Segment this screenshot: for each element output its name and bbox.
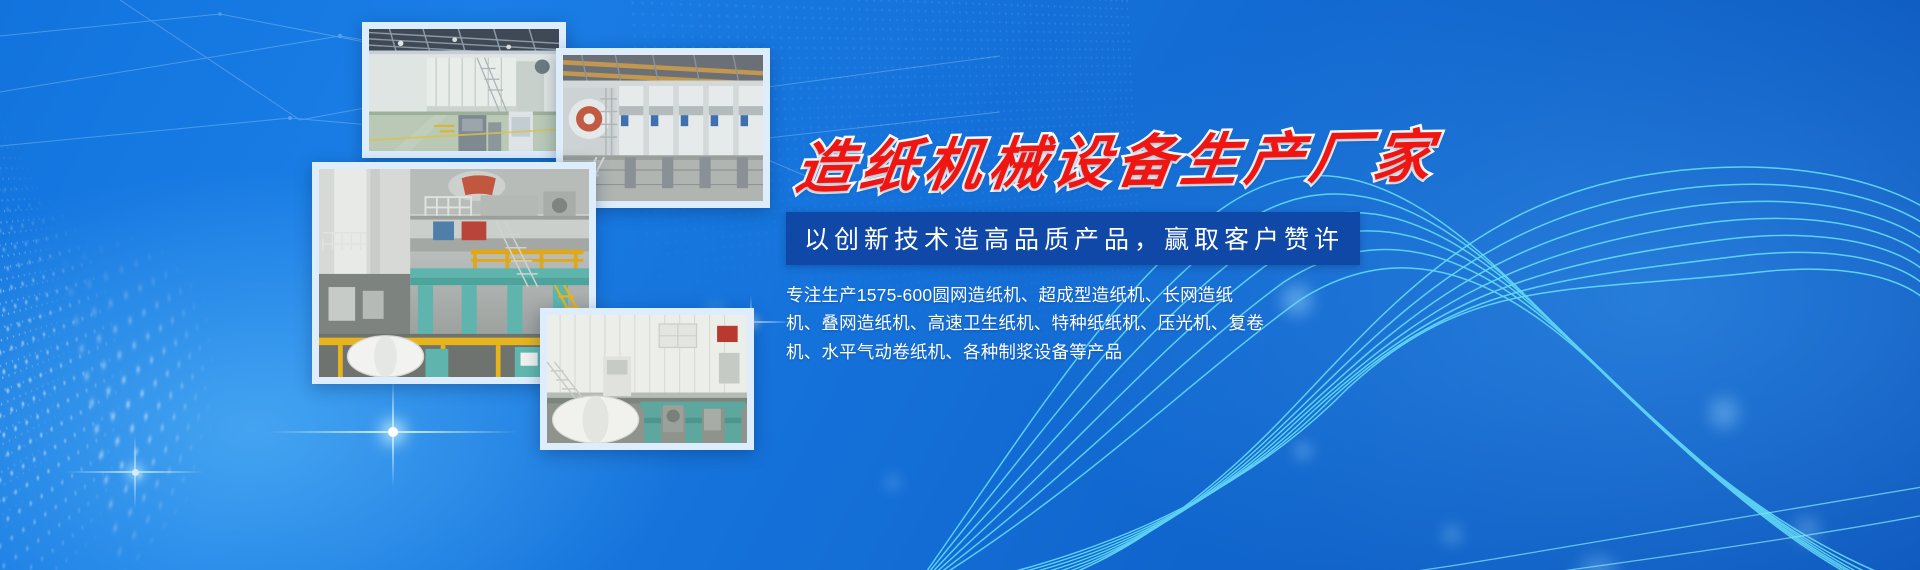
bokeh-dot — [1290, 438, 1316, 464]
banner-text-block: 造纸机械设备生产厂家 以创新技术造高品质产品，赢取客户赞许 专注生产1575-6… — [786, 140, 1786, 366]
bokeh-dot — [1790, 508, 1824, 552]
bokeh-dot — [1568, 552, 1628, 570]
sparkle-flare — [263, 372, 523, 492]
bokeh-dot — [880, 470, 906, 496]
paper-roll-machine-photo — [540, 308, 754, 450]
dot-grid-background-blur — [0, 0, 299, 570]
hero-banner: 造纸机械设备生产厂家 以创新技术造高品质产品，赢取客户赞许 专注生产1575-6… — [0, 0, 1920, 570]
banner-headline: 造纸机械设备生产厂家 — [786, 121, 1797, 200]
bokeh-dot — [1437, 520, 1467, 550]
bokeh-dot — [1705, 388, 1743, 438]
dot-grid-background — [0, 0, 215, 570]
banner-subtitle: 以创新技术造高品质产品，赢取客户赞许 — [804, 220, 1344, 256]
sparkle-flare — [60, 432, 210, 512]
dot-grid-background-bokeh — [0, 0, 314, 570]
banner-description: 专注生产1575-600圆网造纸机、超成型造纸机、长网造纸机、叠网造纸机、高速卫… — [786, 281, 1266, 366]
paper-machine-workshop-photo — [362, 22, 566, 158]
banner-description-block: 专注生产1575-600圆网造纸机、超成型造纸机、长网造纸机、叠网造纸机、高速卫… — [786, 281, 1266, 366]
banner-subtitle-bar: 以创新技术造高品质产品，赢取客户赞许 — [786, 212, 1360, 265]
